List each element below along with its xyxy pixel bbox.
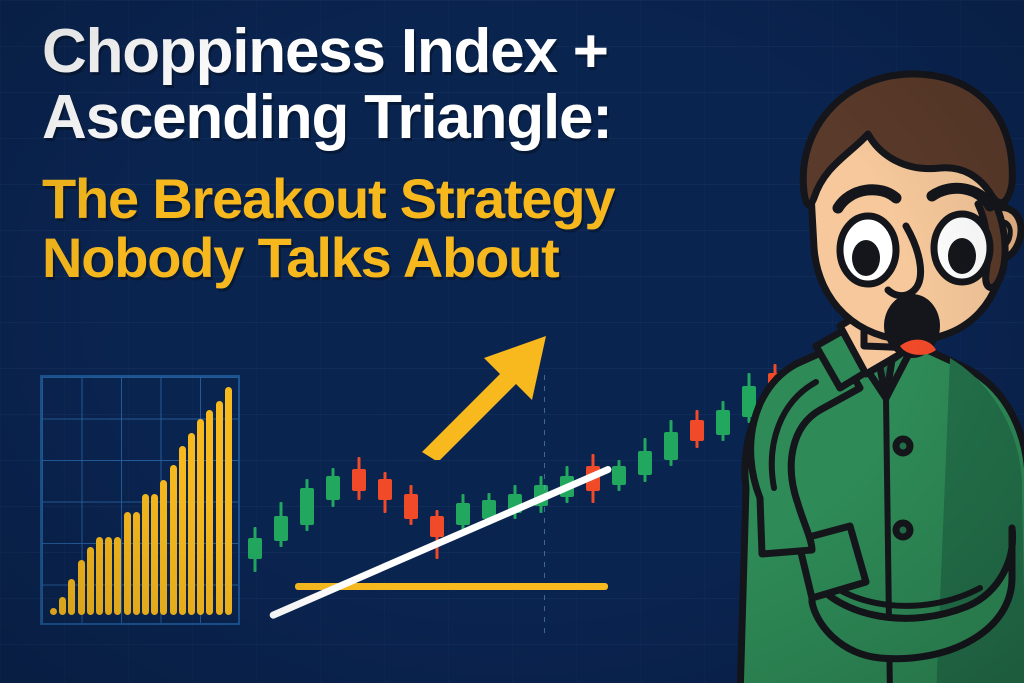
bar-chart-bar xyxy=(142,494,149,615)
candle-body xyxy=(430,516,444,538)
subheadline-line-2: Nobody Talks About xyxy=(42,231,742,285)
candle-bullish xyxy=(326,255,340,635)
bar-chart-bar xyxy=(50,608,57,615)
candle-body xyxy=(378,479,392,501)
candle-bullish xyxy=(612,255,626,635)
bar-chart-bar xyxy=(87,547,94,615)
headline-block: Choppiness Index + Ascending Triangle: T… xyxy=(42,22,742,285)
headline-line-1: Choppiness Index + xyxy=(42,22,742,82)
candle-body xyxy=(664,432,678,460)
bar-chart-bar xyxy=(133,512,140,615)
bar-chart-bar xyxy=(124,512,131,615)
bar-chart-bar xyxy=(59,597,66,615)
thumbnail-canvas: Choppiness Index + Ascending Triangle: T… xyxy=(0,0,1024,683)
bar-chart-panel xyxy=(40,375,240,625)
candle-body xyxy=(248,538,262,560)
candle-bullish xyxy=(274,255,288,635)
subheadline-line-1: The Breakout Strategy xyxy=(42,172,742,226)
candle-body xyxy=(456,503,470,525)
candle-body xyxy=(404,494,418,519)
bar-chart-bar xyxy=(78,560,85,615)
candle-body xyxy=(274,516,288,541)
bar-chart-bar xyxy=(96,537,103,615)
candle-bullish xyxy=(248,255,262,635)
candle-bearish xyxy=(586,255,600,635)
bar-chart-bar xyxy=(225,387,232,615)
bar-chart-bar xyxy=(170,465,177,615)
candle-body xyxy=(638,451,652,476)
candle-body xyxy=(326,476,340,501)
bar-chart-bar xyxy=(188,433,195,615)
candle-bullish xyxy=(560,255,574,635)
headline-line-2: Ascending Triangle: xyxy=(42,88,742,148)
bar-chart-bar xyxy=(160,480,167,615)
candle-bullish xyxy=(664,255,678,635)
bar-chart-bar xyxy=(179,446,186,615)
candle-body xyxy=(300,488,314,525)
candle-bearish xyxy=(378,255,392,635)
candle-body xyxy=(612,466,626,485)
bar-chart-bar xyxy=(114,537,121,615)
bar-chart-bar xyxy=(68,579,75,615)
character-illustration xyxy=(700,58,1024,683)
bar-chart-bar xyxy=(105,537,112,615)
candle-bullish xyxy=(638,255,652,635)
candle-body xyxy=(352,469,366,491)
bar-chart-bars xyxy=(50,387,232,615)
bar-chart-bar xyxy=(151,494,158,615)
bar-chart-bar xyxy=(216,401,223,615)
candle-bullish xyxy=(300,255,314,635)
bar-chart-bar xyxy=(206,410,213,615)
bar-chart-bar xyxy=(197,419,204,615)
breakout-arrow-icon xyxy=(414,330,554,460)
